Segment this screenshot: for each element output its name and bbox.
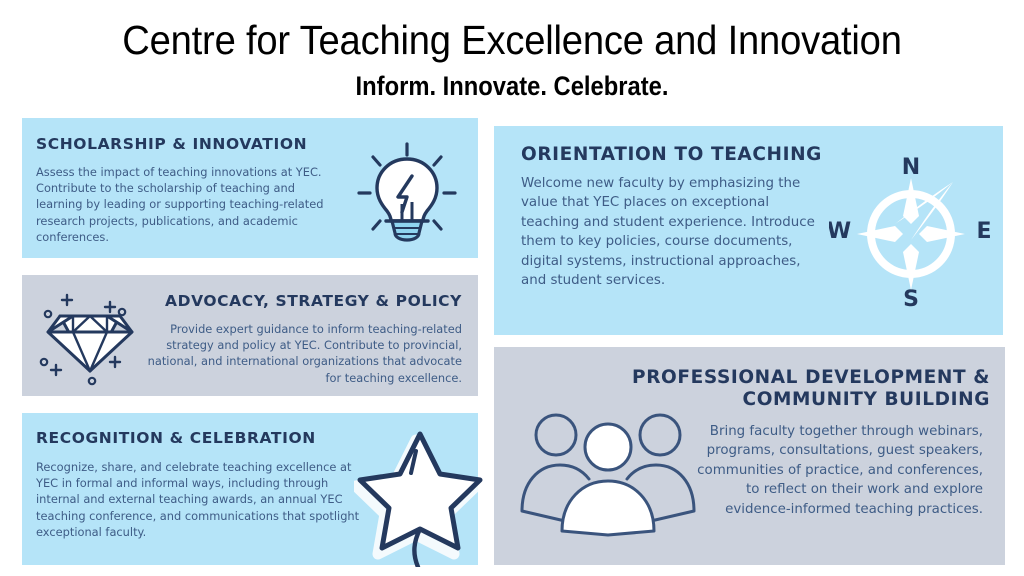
compass-label-north: N (902, 155, 920, 180)
page-title: Centre for Teaching Excellence and Innov… (36, 0, 988, 61)
panel-advocacy-body: Provide expert guidance to inform teachi… (142, 321, 462, 386)
panel-recognition-heading: RECOGNITION & CELEBRATION (36, 430, 316, 448)
panel-scholarship-body: Assess the impact of teaching innovation… (36, 164, 336, 245)
panel-advocacy-heading: ADVOCACY, STRATEGY & POLICY (165, 293, 462, 311)
panel-orientation: ORIENTATION TO TEACHING Welcome new facu… (494, 126, 1003, 335)
diamond-icon (30, 285, 150, 389)
panel-scholarship: SCHOLARSHIP & INNOVATION Assess the impa… (22, 118, 478, 258)
panel-professional-development-body: Bring faculty together through webinars,… (683, 422, 983, 519)
panel-recognition-body: Recognize, share, and celebrate teaching… (36, 459, 368, 540)
header: Centre for Teaching Excellence and Innov… (0, 0, 1024, 112)
panel-advocacy: ADVOCACY, STRATEGY & POLICY Provide expe… (22, 275, 478, 396)
panel-recognition: RECOGNITION & CELEBRATION Recognize, sha… (22, 413, 478, 565)
people-group-icon (518, 409, 698, 539)
compass-icon: N E S W (829, 148, 994, 313)
compass-label-south: S (903, 287, 919, 312)
star-balloon-icon (354, 419, 484, 567)
panel-professional-development-heading: PROFESSIONAL DEVELOPMENT & COMMUNITY BUI… (542, 367, 990, 411)
lightbulb-icon (342, 140, 472, 244)
panel-scholarship-heading: SCHOLARSHIP & INNOVATION (36, 136, 307, 154)
panel-orientation-body: Welcome new faculty by emphasizing the v… (521, 174, 821, 291)
compass-label-west: W (829, 219, 851, 244)
infographic-page: Centre for Teaching Excellence and Innov… (0, 0, 1024, 576)
panel-professional-development: PROFESSIONAL DEVELOPMENT & COMMUNITY BUI… (494, 347, 1005, 565)
panel-orientation-heading: ORIENTATION TO TEACHING (521, 144, 822, 165)
compass-label-east: E (976, 219, 991, 244)
page-tagline: Inform. Innovate. Celebrate. (61, 61, 962, 100)
